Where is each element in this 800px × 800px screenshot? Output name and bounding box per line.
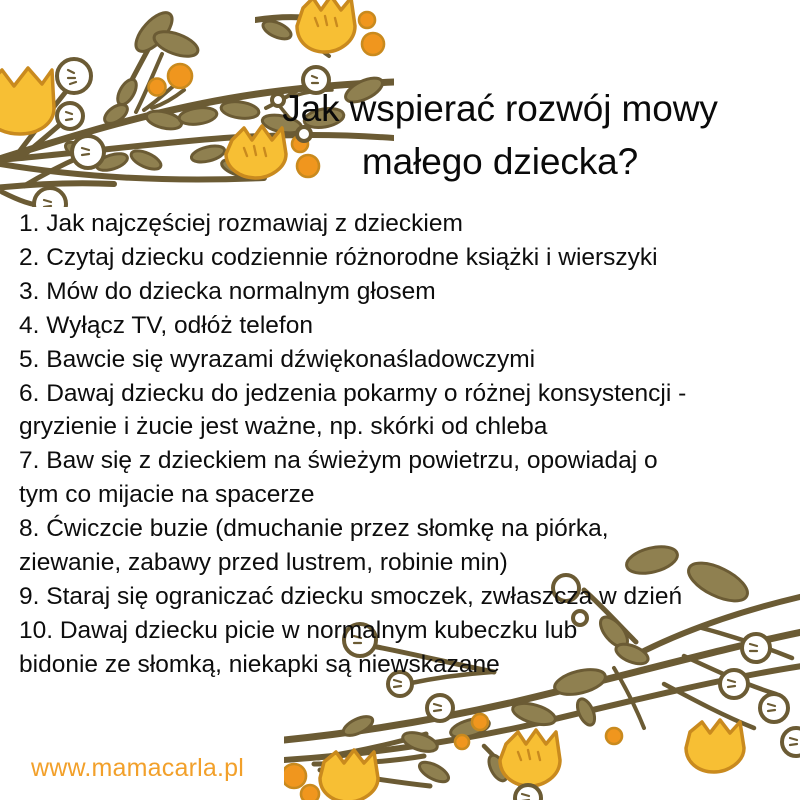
page-title-line-2: małego dziecka?	[205, 135, 795, 188]
tulip-shape	[0, 68, 54, 134]
list-item: 4. Wyłącz TV, odłóż telefon	[19, 309, 779, 343]
tips-list: 1. Jak najczęściej rozmawiaj z dzieckiem…	[19, 207, 779, 682]
list-item: 3. Mów do dziecka normalnym głosem	[19, 275, 779, 309]
list-item: 9. Staraj się ograniczać dziecku smoczek…	[19, 580, 779, 614]
list-item-continuation: tym co mijacie na spacerze	[19, 478, 779, 512]
poster-canvas: Jak wspierać rozwój mowy małego dziecka?…	[0, 0, 800, 800]
list-item-continuation: ziewanie, zabawy przed lustrem, robinie …	[19, 546, 779, 580]
list-item: 8. Ćwiczcie buzie (dmuchanie przez słomk…	[19, 512, 779, 546]
list-item: 6. Dawaj dziecku do jedzenia pokarmy o r…	[19, 377, 779, 411]
page-title: Jak wspierać rozwój mowy małego dziecka?	[205, 82, 795, 188]
list-item: 7. Baw się z dzieckiem na świeżym powiet…	[19, 444, 779, 478]
list-item: 5. Bawcie się wyrazami dźwiękonaśladowcz…	[19, 343, 779, 377]
list-item: 2. Czytaj dziecku codziennie różnorodne …	[19, 241, 779, 275]
list-item: 1. Jak najczęściej rozmawiaj z dzieckiem	[19, 207, 779, 241]
website-url[interactable]: www.mamacarla.pl	[31, 752, 244, 784]
list-item-continuation: gryzienie i żucie jest ważne, np. skórki…	[19, 410, 779, 444]
list-item-continuation: bidonie ze słomką, niekapki są niewskaza…	[19, 648, 779, 682]
page-title-line-1: Jak wspierać rozwój mowy	[205, 82, 795, 135]
list-item: 10. Dawaj dziecku picie w normalnym kube…	[19, 614, 779, 648]
